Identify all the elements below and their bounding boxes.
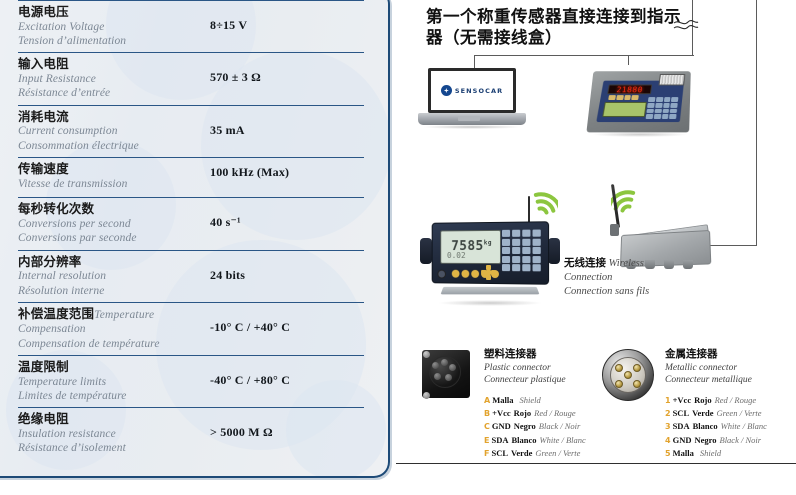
pin-signal: SDA (671, 421, 690, 431)
indicator-stand (441, 287, 540, 294)
spec-label-en: Compensation (18, 322, 204, 336)
spec-value: > 5000 M Ω (204, 411, 364, 440)
spec-label-zh: 内部分辨率 (18, 254, 204, 270)
secondary-reading: 0.02 (447, 251, 466, 260)
spec-labels: 温度限制 Temperature limits Limites de tempé… (18, 359, 204, 403)
spec-value: 35 mA (204, 109, 364, 138)
pin-color-translation: Green / Verte (714, 408, 762, 418)
spec-label-fr: Conversions par seconde (18, 231, 204, 245)
pin-color-translation: Red / Rouge (712, 395, 757, 405)
connector-pin-row: 1+VccRojoRed / Rouge (665, 394, 796, 407)
connector-title-zh: 塑料连接器 (484, 348, 616, 362)
spec-label-zh: 绝缘电阻 (18, 411, 204, 427)
spec-label-en: Internal resolution (18, 269, 204, 283)
pin-color-translation: Red / Rouge (531, 408, 576, 418)
connector-title-zh: 金属连接器 (665, 348, 796, 362)
spec-labels: 每秒转化次数 Conversions per second Conversion… (18, 201, 204, 245)
pin-signal: +Vcc (671, 395, 692, 405)
pin-id: 4 (665, 436, 671, 445)
pin-signal: Malla (490, 395, 513, 405)
specification-panel: 电源电压 Excitation Voltage Tension d’alimen… (0, 0, 390, 478)
desk-indicator-printer (658, 74, 685, 85)
spec-label-fr: Résolution interne (18, 284, 204, 298)
pin-signal: SCL (489, 448, 508, 458)
wifi-signal-icon-left (524, 188, 558, 218)
spec-label-fr: Limites de température (18, 389, 204, 403)
plastic-connector-block: 塑料连接器 Plastic connector Connecteur plast… (420, 348, 616, 460)
pin-color-es: Negro (511, 421, 536, 431)
connection-diagram: 第一个称重传感器直接连接到指示器（无需接线盒） SENSOCAR (396, 0, 796, 495)
spec-value: 24 bits (204, 254, 364, 283)
spec-label-fr: Tension d’alimentation (18, 34, 204, 48)
spec-label-zh: 输入电阻 (18, 56, 204, 72)
spec-labels: 传输速度 Vitesse de transmission (18, 161, 204, 191)
specification-table: 电源电压 Excitation Voltage Tension d’alimen… (0, 0, 390, 478)
pin-signal: +Vcc (490, 408, 511, 418)
diagram-title: 第一个称重传感器直接连接到指示器（无需接线盒） (426, 6, 686, 49)
connector-screw (423, 392, 430, 399)
pin-color-es: Rojo (691, 395, 711, 405)
connector-pin-row: AMallaShield (484, 394, 616, 407)
laptop-device: SENSOCAR (418, 68, 526, 128)
pin-color-translation: Black / Noir (717, 435, 762, 445)
connector-pin-row: 2SCLVerdeGreen / Verte (665, 407, 796, 420)
connector-pin (633, 364, 641, 372)
spec-row: 温度限制 Temperature limits Limites de tempé… (18, 355, 364, 407)
connector-title-en: Plastic connector (484, 362, 616, 375)
spec-value: 100 kHz (Max) (204, 161, 364, 180)
spec-labels: 内部分辨率 Internal resolution Résolution int… (18, 254, 204, 298)
spec-label-zh: 每秒转化次数 (18, 201, 204, 217)
spec-labels: 补偿温度范围Temperature Compensation Compensat… (18, 306, 204, 351)
connector-title-fr: Connecteur plastique (484, 374, 616, 387)
pin-signal: Malla (671, 448, 694, 458)
navigation-pad[interactable] (481, 265, 497, 279)
wireless-indicator-screen: 7585kg 0.02 (440, 230, 501, 264)
wireless-connection-caption: 无线连接 Wireless Connection Connection sans… (564, 257, 694, 299)
connector-title-en: Metallic connector (665, 362, 796, 375)
connector-pin (624, 371, 632, 379)
spec-row: 每秒转化次数 Conversions per second Conversion… (18, 197, 364, 249)
connector-pin-row: B+VccRojoRed / Rouge (484, 407, 616, 420)
pin-signal: SCL (671, 408, 690, 418)
spec-labels: 绝缘电阻 Insulation resistance Résistance d’… (18, 411, 204, 455)
wireless-caption-zh: 无线连接 (564, 257, 606, 269)
spec-row: 电源电压 Excitation Voltage Tension d’alimen… (18, 0, 364, 52)
spec-value: -10° C / +40° C (204, 306, 364, 335)
plastic-connector-photo (420, 348, 474, 402)
pin-color-es: Rojo (511, 408, 531, 418)
power-button[interactable] (437, 270, 446, 279)
spec-label-en: Temperature limits (18, 375, 204, 389)
spec-row: 绝缘电阻 Insulation resistance Résistance d’… (18, 407, 364, 459)
spec-row: 传输速度 Vitesse de transmission 100 kHz (Ma… (18, 157, 364, 197)
pin-id: 5 (665, 449, 671, 458)
metallic-connector-block: 金属连接器 Metallic connector Connecteur meta… (601, 348, 796, 460)
connector-screw (423, 351, 430, 358)
junction-box-antenna-base (610, 224, 619, 236)
pin-id: 2 (665, 409, 671, 418)
connector-pin (615, 380, 623, 388)
pin-color-translation: Shield (697, 448, 721, 458)
spec-label-zh: 消耗电流 (18, 109, 204, 125)
spec-row: 内部分辨率 Internal resolution Résolution int… (18, 250, 364, 302)
wireless-indicator-case: 7585kg 0.02 (432, 221, 549, 285)
pin-color-es: Negro (691, 435, 716, 445)
connector-pin (633, 380, 641, 388)
indicator-bracket-left (420, 238, 432, 264)
connector-pin (441, 359, 448, 366)
spec-label-zh: 温度限制 (18, 359, 204, 375)
spec-label-zh: 电源电压 (18, 4, 204, 20)
spec-label-fr: Compensation de température (18, 337, 204, 351)
connector-pin-row: 3SDABlancoWhite / Blanc (665, 420, 796, 433)
spec-label-fr: Résistance d’entrée (18, 86, 204, 100)
wire-break-icon (673, 18, 699, 32)
spec-labels: 消耗电流 Current consumption Consommation él… (18, 109, 204, 153)
spec-label-zh: 传输速度 (18, 161, 204, 177)
connector-pin-row: FSCLVerdeGreen / Verte (484, 447, 616, 460)
connector-pin-row: ESDABlancoWhite / Blanc (484, 434, 616, 447)
pin-signal: GND (490, 421, 511, 431)
laptop-trackpad (458, 116, 480, 121)
spec-value: 8÷15 V (204, 4, 364, 33)
pin-color-translation: Green / Verte (532, 448, 580, 458)
spec-value: 570 ± 3 Ω (204, 56, 364, 85)
connector-pin (432, 362, 439, 369)
spec-label-en: Current consumption (18, 124, 204, 138)
connector-pin (445, 374, 452, 381)
spec-row: 消耗电流 Current consumption Consommation él… (18, 105, 364, 157)
spec-row: 补偿温度范围Temperature Compensation Compensat… (18, 302, 364, 355)
spec-label-zh-text: 补偿温度范围 (18, 306, 94, 321)
spec-value: -40° C / +80° C (204, 359, 364, 388)
spec-value: 40 s⁻¹ (204, 201, 364, 230)
spec-label-zh: 补偿温度范围Temperature (18, 306, 204, 322)
spec-label-inline-en: Temperature (94, 309, 154, 321)
spec-label-en: Input Resistance (18, 72, 204, 86)
connector-pin (434, 373, 441, 380)
laptop-screen: SENSOCAR (428, 68, 516, 113)
laptop-shadow (422, 125, 522, 129)
spec-labels: 电源电压 Excitation Voltage Tension d’alimen… (18, 4, 204, 48)
desk-indicator-led-display: 21880 (607, 85, 652, 95)
wireless-indicator-device: 7585kg 0.02 (424, 212, 556, 316)
pin-id: C (484, 422, 490, 431)
wireless-indicator-keypad[interactable] (502, 230, 541, 277)
wire-segment (756, 0, 757, 246)
pin-color-es: Verde (689, 408, 713, 418)
connector-pin-row: 4GNDNegroBlack / Noir (665, 434, 796, 447)
desk-indicator-keypad[interactable] (646, 97, 679, 119)
pin-color-translation: White / Blanc (718, 421, 767, 431)
pin-signal: GND (671, 435, 692, 445)
spec-labels: 输入电阻 Input Resistance Résistance d’entré… (18, 56, 204, 100)
spec-label-en: Excitation Voltage (18, 20, 204, 34)
metallic-connector-photo (601, 348, 655, 402)
pin-color-es: Blanco (508, 435, 536, 445)
pin-signal: SDA (489, 435, 508, 445)
connector-pin-list: AMallaShield B+VccRojoRed / Rouge CGNDNe… (484, 394, 616, 461)
wire-segment (474, 55, 694, 56)
wireless-caption-fr: Connection sans fils (564, 286, 649, 297)
metallic-connector-text: 金属连接器 Metallic connector Connecteur meta… (665, 348, 796, 461)
pin-id: 3 (665, 422, 671, 431)
connector-pin-row: 5MallaShield (665, 447, 796, 460)
spec-row: 输入电阻 Input Resistance Résistance d’entré… (18, 52, 364, 104)
page-root: 电源电压 Excitation Voltage Tension d’alimen… (0, 0, 796, 495)
connector-pin-list: 1+VccRojoRed / Rouge 2SCLVerdeGreen / Ve… (665, 394, 796, 461)
desk-indicator-device: 21880 (586, 62, 698, 140)
desk-indicator-shadow (592, 132, 688, 137)
weight-unit: kg (484, 240, 492, 247)
pin-color-es: Blanco (690, 421, 718, 431)
spec-label-en: Conversions per second (18, 217, 204, 231)
laptop-brand-label: SENSOCAR (455, 87, 503, 95)
connector-title-fr: Connecteur metallique (665, 374, 796, 387)
pin-id: 1 (665, 396, 671, 405)
pin-color-es: Verde (508, 448, 532, 458)
laptop-base (418, 113, 526, 125)
indicator-bracket-right (548, 238, 560, 264)
desk-indicator-function-keys (608, 95, 639, 100)
desk-indicator-lcd (602, 102, 647, 117)
spec-label-fr: Résistance d’isolement (18, 441, 204, 455)
spec-label-en: Insulation resistance (18, 427, 204, 441)
diagram-bottom-rule (396, 463, 796, 464)
spec-label-fr: Consommation électrique (18, 139, 204, 153)
desk-indicator-body: 21880 (586, 71, 690, 132)
spec-label-fr: Vitesse de transmission (18, 177, 204, 191)
desk-indicator-face: 21880 (596, 81, 684, 122)
pin-color-translation: Black / Noir (536, 421, 581, 431)
pin-color-translation: White / Blanc (537, 435, 586, 445)
indicator-shadow (438, 300, 542, 306)
plastic-connector-text: 塑料连接器 Plastic connector Connecteur plast… (484, 348, 616, 461)
sensocar-logo-icon (441, 85, 452, 96)
pin-color-translation: Shield (516, 395, 540, 405)
connector-pin (615, 364, 623, 372)
connector-pin-row: CGNDNegroBlack / Noir (484, 420, 616, 433)
connector-pin (449, 364, 456, 371)
